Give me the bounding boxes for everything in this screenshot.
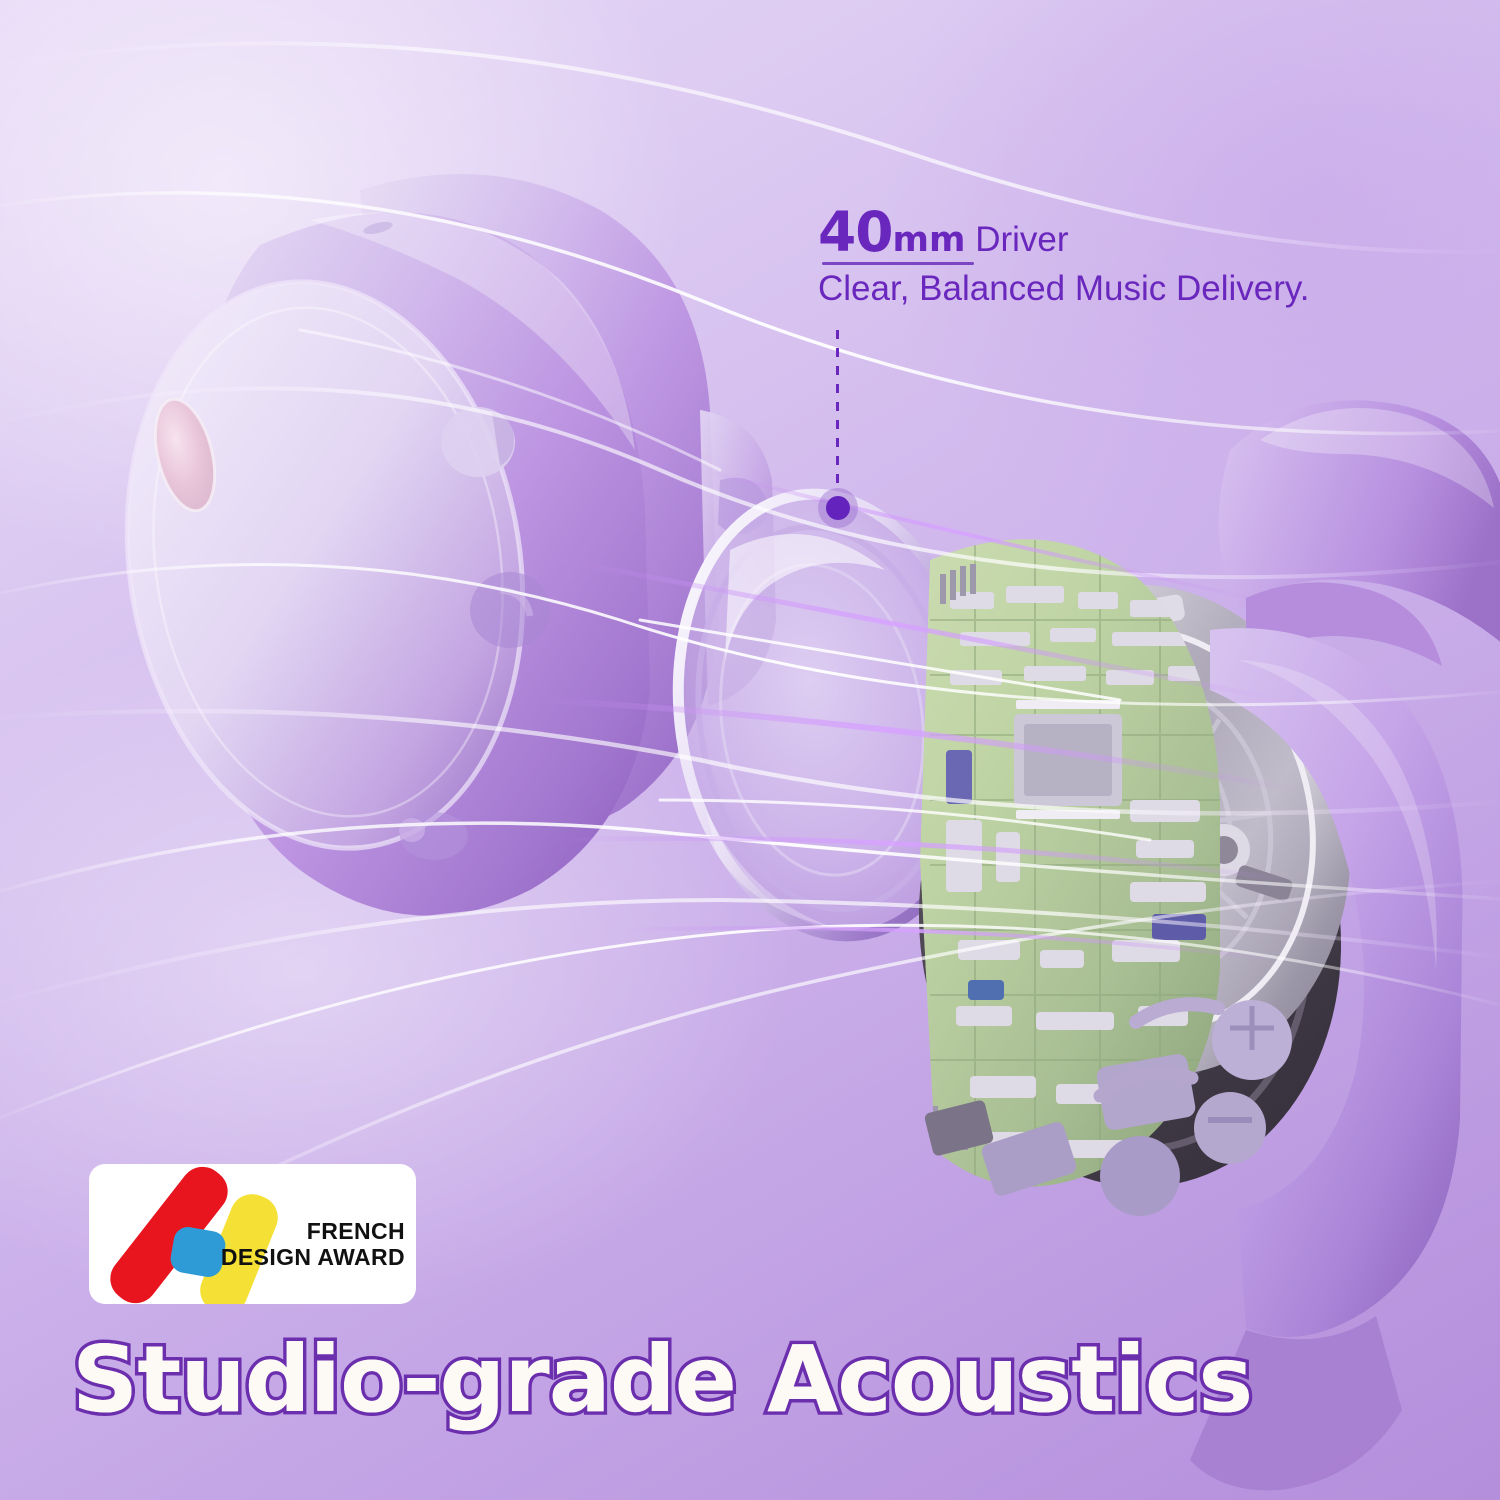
headband-and-earpad — [1150, 330, 1500, 1500]
callout-subtitle: Clear, Balanced Music Delivery. — [818, 269, 1310, 309]
award-line-2: DESIGN AWARD — [221, 1245, 405, 1271]
driver-callout: 40mm Driver Clear, Balanced Music Delive… — [818, 205, 1310, 309]
callout-number: 40 — [818, 200, 893, 264]
page-headline: Studio-grade Acoustics — [72, 1326, 1252, 1433]
callout-leader-dot — [818, 488, 858, 528]
award-badge: FRENCH DESIGN AWARD — [89, 1164, 416, 1304]
logo-blue-square — [168, 1225, 227, 1279]
award-line-1: FRENCH — [221, 1219, 405, 1245]
callout-headline: 40mm Driver — [818, 205, 1310, 260]
callout-label: Driver — [966, 220, 1069, 259]
callout-leader-line — [836, 330, 839, 488]
callout-unit: mm — [893, 220, 966, 260]
product-feature-image: 40mm Driver Clear, Balanced Music Delive… — [0, 0, 1500, 1500]
award-badge-text: FRENCH DESIGN AWARD — [221, 1219, 405, 1271]
